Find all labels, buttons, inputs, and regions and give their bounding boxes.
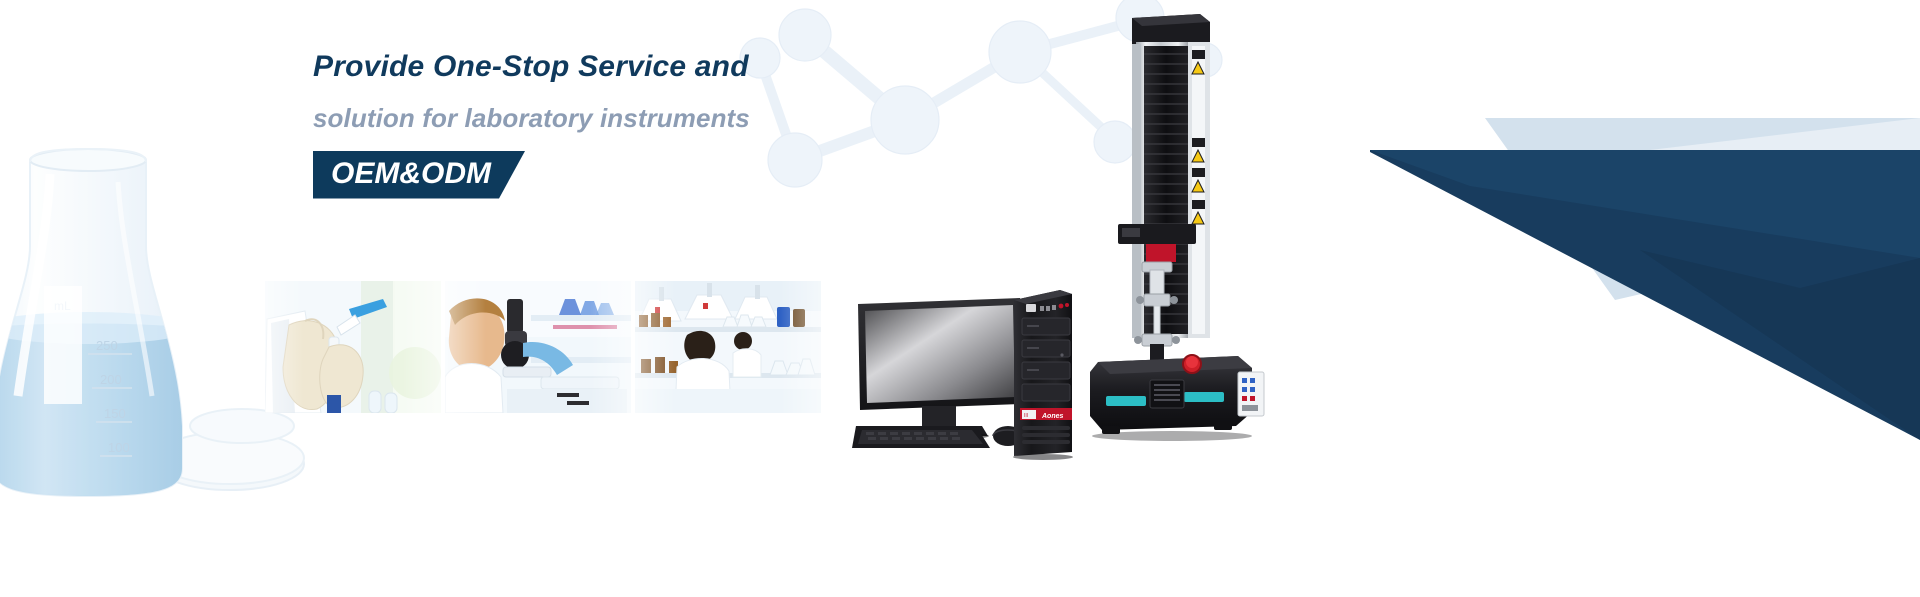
lower-grip [1134, 334, 1180, 362]
tensile-testing-machine [1088, 12, 1298, 456]
keyboard [852, 426, 990, 448]
svg-text:Aones: Aones [1041, 413, 1064, 420]
oem-odm-badge: OEM&ODM [313, 151, 525, 199]
photo-panel-lab-bench [635, 281, 821, 413]
flask-graduation-250: 250 [96, 338, 118, 353]
svg-text:III: III [1024, 413, 1028, 419]
headline-line-2: solution for laboratory instruments [313, 105, 1093, 131]
pc-tower: III Aones [1012, 284, 1072, 452]
flask-graduation-150: 150 [104, 406, 126, 421]
headline-line-1: Provide One-Stop Service and [313, 52, 1093, 82]
promotional-banner: 250 200 150 100 mL Provide One-Stop Serv… [0, 0, 1920, 597]
photo-strip [265, 281, 821, 413]
photo-panel-pipetting [265, 281, 441, 413]
flask-graduation-100: 100 [108, 440, 130, 455]
flask-graduation-200: 200 [100, 372, 122, 387]
machine-base [1090, 355, 1264, 434]
photo-panel-microscope [445, 281, 631, 413]
erlenmeyer-flask-illustration: 250 200 150 100 mL [0, 96, 292, 516]
lcd-monitor [858, 298, 1022, 440]
headline-block: Provide One-Stop Service and solution fo… [313, 52, 1093, 199]
